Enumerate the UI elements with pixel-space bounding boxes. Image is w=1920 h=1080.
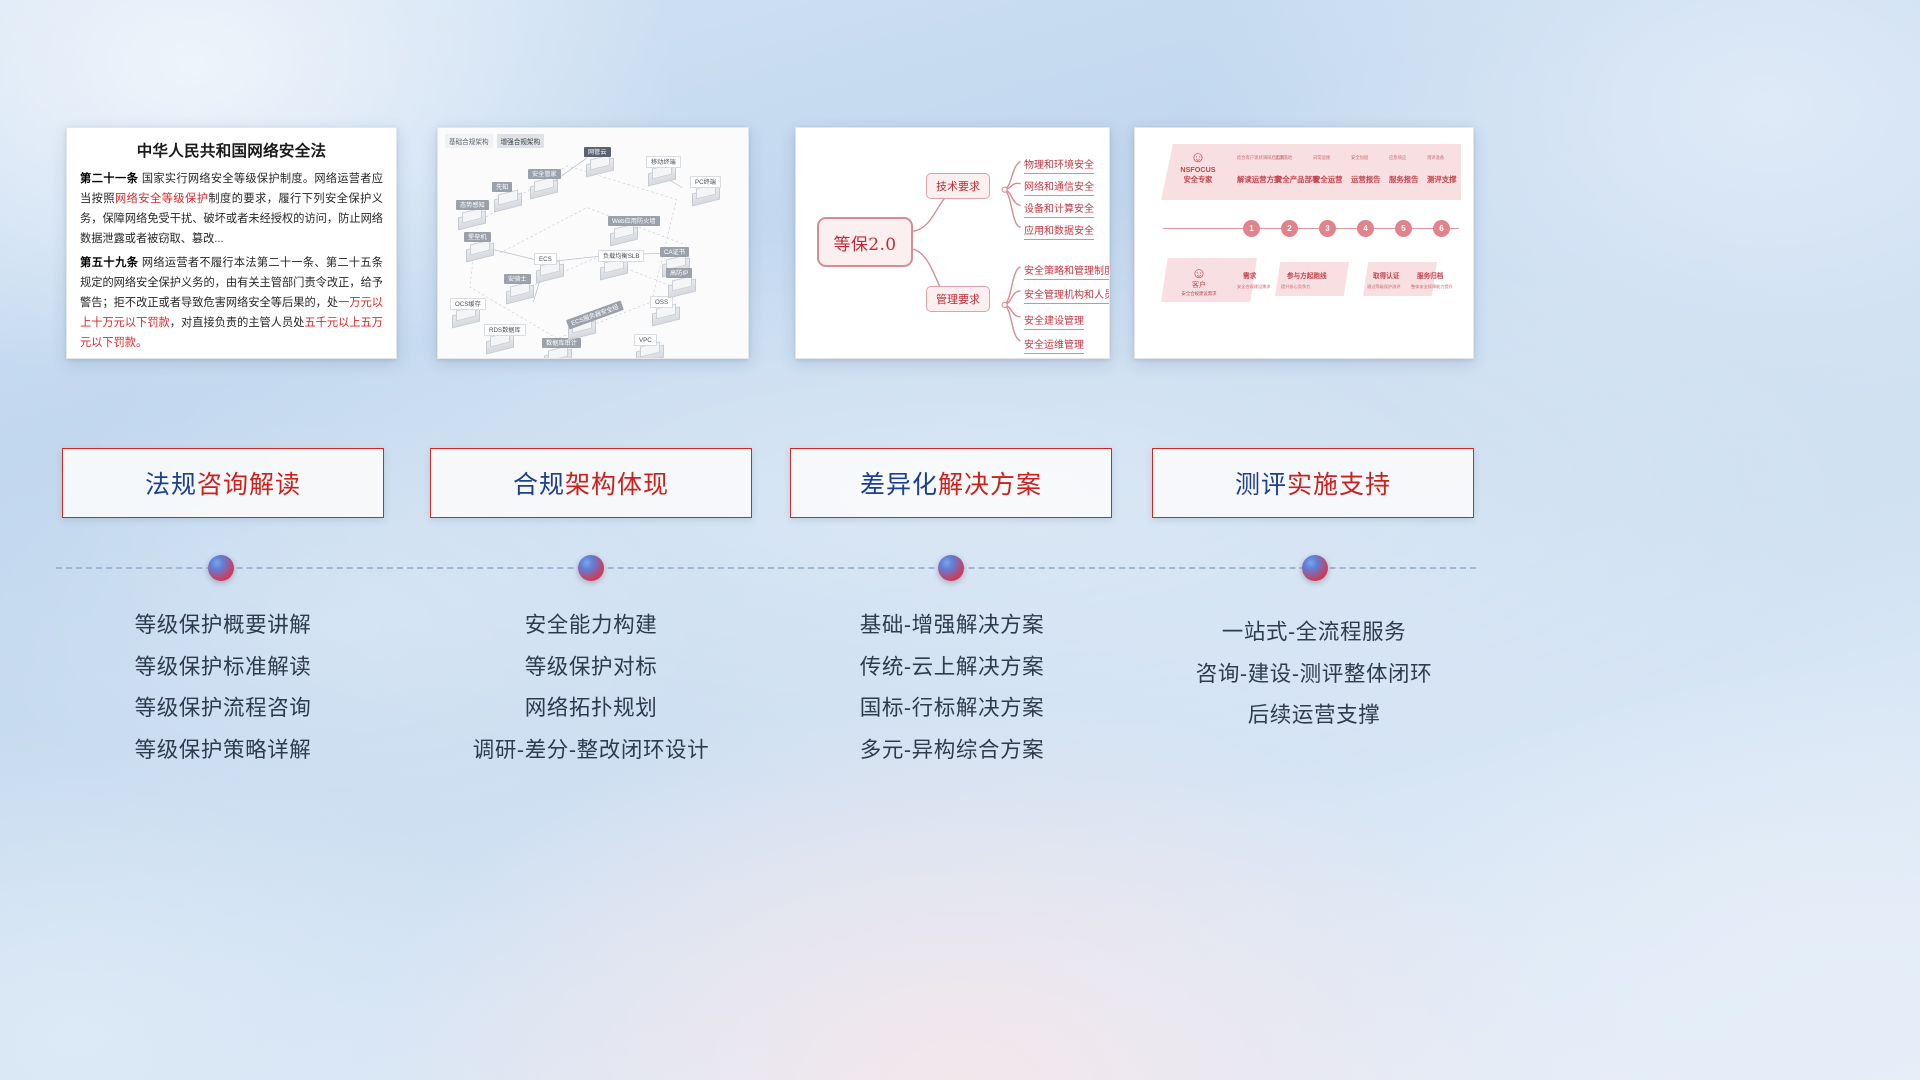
headline-box-3[interactable]: 差异化解决方案 [790,448,1112,518]
bullet-list-1: 等级保护概要讲解等级保护标准解读等级保护流程咨询等级保护策略详解 [53,605,393,771]
architecture-node-label: 网管云 [584,147,611,157]
nsfocus-lower-tag: 服务归档 [1417,270,1443,280]
mindmap-leaf: 安全建设管理 [1024,312,1084,330]
architecture-node-label: 移动终端 [646,156,681,168]
architecture-node-label: 堡垒机 [464,232,491,242]
architecture-node-glyph [648,166,674,181]
architecture-node-label: 安骑士 [504,274,531,284]
mindmap-leaf: 应用和数据安全 [1024,222,1094,240]
headline-text-1: 法规咨询解读 [145,465,301,501]
headline-box-2[interactable]: 合规架构体现 [430,448,752,518]
bullet-list-4: 一站式-全流程服务咨询-建设-测评整体闭环后续运营支撑 [1144,612,1484,737]
timeline-dot-4[interactable] [1302,555,1328,581]
architecture-node-glyph [494,192,520,207]
headline-4-blue: 测评 [1235,471,1287,499]
architecture-node-label: OCS缓存 [450,298,486,310]
nsfocus-lower-tag-sub: 安全合规建设需求 [1237,284,1271,290]
law-paragraph-2: 第五十九条 网络运营者不履行本法第二十一条、第二十五条规定的网络安全保护义务的，… [80,254,383,354]
bullet-item: 等级保护流程咨询 [53,688,393,730]
bullet-list-2: 安全能力构建等级保护对标网络拓扑规划调研-差分-整改闭环设计 [421,605,761,771]
architecture-node-glyph [486,334,512,349]
bullet-item: 安全能力构建 [421,605,761,647]
architecture-node-glyph [692,186,718,201]
law-run-1-1: 网络安全等级保护 [115,193,208,205]
architecture-node-glyph [668,278,694,293]
headline-4-red: 实施支持 [1287,471,1391,499]
architecture-node-glyph [530,179,556,194]
nsfocus-customer: 客户 [1169,281,1229,291]
person-icon: ☺ [1169,150,1227,165]
nsfocus-step-dot[interactable]: 6 [1433,220,1450,237]
architecture-node-label: 先知 [492,182,512,192]
bullet-item: 传统-云上解决方案 [782,647,1122,689]
bullet-item: 咨询-建设-测评整体闭环 [1144,654,1484,696]
nsfocus-step-dot[interactable]: 3 [1319,220,1336,237]
architecture-node-label: VPC [634,334,657,346]
headline-text-4: 测评实施支持 [1235,465,1391,501]
customer-icon: ☺ [1169,266,1229,281]
law-paragraph-1: 第二十一条 国家实行网络安全等级保护制度。网络运营者应当按照网络安全等级保护制度… [80,170,383,250]
nsfocus-lower-tag: 参与方起跑线 [1287,270,1327,280]
headline-1-blue: 法规 [145,471,197,499]
bullet-item: 等级保护标准解读 [53,647,393,689]
headline-2-blue: 合规 [513,471,565,499]
architecture-node-glyph [544,348,570,359]
headline-box-1[interactable]: 法规咨询解读 [62,448,384,518]
nsfocus-brand-block: ☺ NSFOCUS 安全专家 [1169,150,1227,184]
bullet-item: 基础-增强解决方案 [782,605,1122,647]
bullet-item: 后续运营支撑 [1144,695,1484,737]
nsfocus-step-sub: 安全加固 [1351,155,1368,161]
timeline-dot-3[interactable] [938,555,964,581]
nsfocus-step-dot[interactable]: 1 [1243,220,1260,237]
bullet-item: 国标-行标解决方案 [782,688,1122,730]
architecture-node-label: 负载均衡SLB [598,250,644,262]
mindmap-leaf: 物理和环境安全 [1024,156,1094,174]
architecture-node-label: 态势感知 [456,200,489,210]
mindmap-branch-management: 管理要求 [926,286,990,312]
bullet-item: 等级保护对标 [421,647,761,689]
card-nsfocus-timeline[interactable]: ☺ NSFOCUS 安全专家 结合客户现状调研后出具解读运营方案实测落地安全产品… [1134,127,1474,359]
nsfocus-step-label: 测评支撑 [1427,174,1457,185]
architecture-node-glyph [506,284,532,299]
headline-text-2: 合规架构体现 [513,465,669,501]
mindmap-leaf: 网络和通信安全 [1024,178,1094,196]
slide-stage: 中华人民共和国网络安全法 第二十一条 国家实行网络安全等级保护制度。网络运营者应… [0,0,1920,1080]
law-article-label-2: 第五十九条 [80,257,138,269]
timeline-dot-2[interactable] [578,555,604,581]
architecture-node-glyph [600,260,626,275]
bullet-item: 一站式-全流程服务 [1144,612,1484,654]
nsfocus-step-sub: 应急响应 [1389,155,1406,161]
architecture-node-glyph [536,263,562,278]
architecture-node-label: ECS [534,253,557,265]
architecture-node-label: PC终端 [690,176,721,188]
nsfocus-step-label: 服务报告 [1389,174,1419,185]
nsfocus-customer-block: ☺ 客户 安全合规建设需求 [1169,266,1229,297]
headline-1-red: 咨询解读 [197,471,301,499]
nsfocus-step-dot[interactable]: 5 [1395,220,1412,237]
nsfocus-canvas: ☺ NSFOCUS 安全专家 结合客户现状调研后出具解读运营方案实测落地安全产品… [1135,128,1473,358]
headline-3-red: 解决方案 [938,471,1042,499]
architecture-canvas: 基础合规架构 增强合规架构 态势感知先知安全管家网管云堡垒机 [438,128,748,358]
nsfocus-step-dot[interactable]: 4 [1357,220,1374,237]
nsfocus-lower-tag-sub: 提升核心竞争力 [1281,284,1310,290]
nsfocus-step-label: 运营报告 [1351,174,1381,185]
mindmap-leaf: 安全运维管理 [1024,336,1084,354]
architecture-node-glyph [652,306,678,321]
architecture-node-label: 高防IP [666,268,692,278]
mindmap-leaf: 设备和计算安全 [1024,200,1094,218]
nsfocus-brand: NSFOCUS [1169,165,1227,175]
law-article-label-1: 第二十一条 [80,173,138,185]
architecture-node-label: CA证书 [660,247,689,257]
mindmap-leaf: 安全管理机构和人员 [1024,286,1110,304]
bullet-item: 网络拓扑规划 [421,688,761,730]
architecture-node-glyph [586,157,612,172]
architecture-node-label: RDS数据库 [484,324,526,336]
architecture-node-glyph [458,210,484,225]
headline-3-blue: 差异化 [860,471,938,499]
nsfocus-timeline-line [1163,228,1459,229]
bullet-item: 等级保护概要讲解 [53,605,393,647]
architecture-node-glyph [610,226,636,241]
architecture-node-layer: 态势感知先知安全管家网管云堡垒机ECS安骑士OCS缓存RDS数据库数据库审计We… [438,128,748,358]
nsfocus-lower-tag: 取得认证 [1373,270,1399,280]
architecture-node-glyph [466,242,492,257]
nsfocus-step-dot[interactable]: 2 [1281,220,1298,237]
timeline-dashed-line [56,567,1476,569]
nsfocus-step-sub: 实测落地 [1275,155,1292,161]
headline-text-3: 差异化解决方案 [860,465,1042,501]
card-architecture-diagram[interactable]: 基础合规架构 增强合规架构 态势感知先知安全管家网管云堡垒机 [437,127,749,359]
mindmap-leaf: 安全策略和管理制度 [1024,262,1110,280]
architecture-node-glyph [636,344,662,359]
law-title: 中华人民共和国网络安全法 [80,139,383,161]
mindmap-canvas: 等保2.0 技术要求 管理要求 物理和环境安全网络和通信安全设备和计算安全应用和… [796,128,1109,358]
nsfocus-lower-tag-sub: 通过等级保护测评 [1367,284,1401,290]
nsfocus-customer-sub: 安全合规建设需求 [1169,291,1229,297]
card-law-document[interactable]: 中华人民共和国网络安全法 第二十一条 国家实行网络安全等级保护制度。网络运营者应… [66,127,397,359]
headline-2-red: 架构体现 [565,471,669,499]
bullet-item: 调研-差分-整改闭环设计 [421,730,761,772]
nsfocus-lower-tag: 需求 [1243,270,1256,280]
nsfocus-lower-tag-sub: 整体安全保障能力提升 [1411,284,1453,290]
nsfocus-step-label: 安全运营 [1313,174,1343,185]
timeline-dot-1[interactable] [208,555,234,581]
mindmap-branch-technical: 技术要求 [926,173,990,199]
architecture-node-label: 安全管家 [528,169,561,179]
mindmap-root-node: 等保2.0 [817,217,913,267]
headline-box-4[interactable]: 测评实施支持 [1152,448,1474,518]
law-document-body: 中华人民共和国网络安全法 第二十一条 国家实行网络安全等级保护制度。网络运营者应… [67,128,396,359]
card-mindmap[interactable]: 等保2.0 技术要求 管理要求 物理和环境安全网络和通信安全设备和计算安全应用和… [795,127,1110,359]
architecture-node-label: 数据库审计 [542,338,581,348]
law-run-2-2: ，对直接负责的主管人员处 [170,317,305,329]
bullet-item: 等级保护策略详解 [53,730,393,772]
nsfocus-step-sub: 测评准备 [1427,155,1444,161]
architecture-node-glyph [452,308,478,323]
nsfocus-brand-sub: 安全专家 [1169,175,1227,185]
bullet-item: 多元-异构综合方案 [782,730,1122,772]
nsfocus-step-sub: 日常运维 [1313,155,1330,161]
architecture-node-label: Web应用防火墙 [608,216,660,226]
bullet-list-3: 基础-增强解决方案传统-云上解决方案国标-行标解决方案多元-异构综合方案 [782,605,1122,771]
